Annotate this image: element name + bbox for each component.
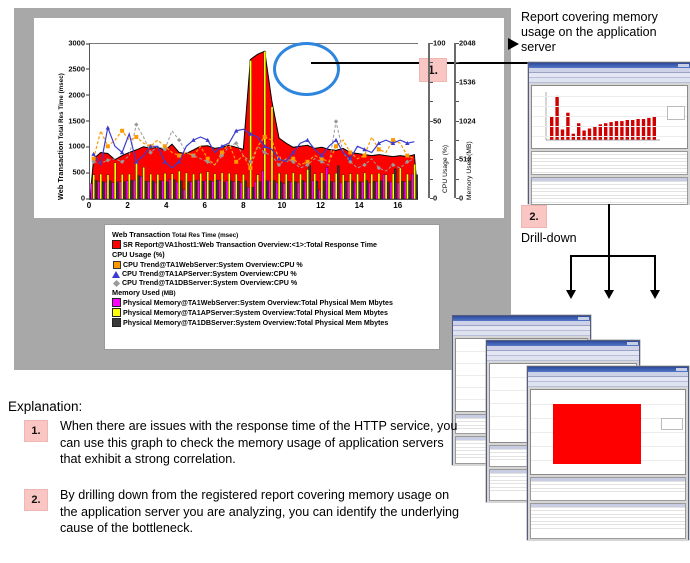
legend-group-heading: CPU Usage (%) [112, 250, 436, 259]
explanation-text-2: By drilling down from the registered rep… [60, 487, 460, 537]
legend-item: Physical Memory@TA1WebServer:System Over… [112, 298, 436, 307]
highlight-circle [273, 42, 340, 96]
report-chart-legend [667, 106, 685, 120]
drilldown-arrow-mid [604, 290, 614, 299]
drilldown-bar-3 [553, 404, 641, 464]
legend-item-label: Physical Memory@TA1APServer:System Overv… [123, 309, 388, 317]
color-swatch-icon [112, 298, 121, 307]
legend-item: SR Report@VA1host1:Web Transaction Overv… [112, 240, 436, 249]
y-axis-cpu-label: CPU Usage (%) [442, 145, 449, 193]
legend-item: CPU Trend@TA1DBServer:System Overview:CP… [112, 279, 436, 287]
drilldown-arrow-right [650, 290, 660, 299]
report-title: Report covering memory usage on the appl… [521, 10, 689, 55]
x-tick-label: 14 [355, 201, 364, 210]
report-data-table [531, 177, 688, 205]
legend-item: CPU Trend@TA1WebServer:System Overview:C… [112, 260, 436, 269]
explanation-text-1: When there are issues with the response … [60, 418, 460, 468]
x-tick-label: 16 [393, 201, 402, 210]
x-tick-label: 6 [203, 201, 207, 210]
legend-item: Physical Memory@TA1APServer:System Overv… [112, 308, 436, 317]
report-window-screenshot[interactable] [528, 62, 690, 204]
drilldown-branch-left [570, 255, 572, 291]
x-tick-label: 8 [241, 201, 245, 210]
y-axis-memory-label: Memory Used (MB) [466, 141, 473, 200]
drilldown-branch-mid [608, 255, 610, 291]
x-tick-label: 4 [164, 201, 168, 210]
square-marker-icon [113, 261, 121, 269]
legend-item-label: Physical Memory@TA1DBServer:System Overv… [123, 319, 388, 327]
drill-down-label: Drill-down [521, 231, 577, 245]
explanation-badge-1: 1. [24, 420, 48, 442]
callout-badge-2: 2. [521, 205, 547, 228]
legend-item: Physical Memory@TA1DBServer:System Overv… [112, 318, 436, 327]
x-axis-ticks: 0246810121416 [89, 201, 417, 213]
color-swatch-icon [112, 308, 121, 317]
color-swatch-icon [112, 240, 121, 249]
chart-legend: Web Transaction Total Res Time (msec)SR … [104, 224, 440, 350]
performance-chart: Web Transaction Total Res Time (msec) 30… [34, 18, 504, 218]
x-tick-label: 12 [316, 201, 325, 210]
legend-item-label: SR Report@VA1host1:Web Transaction Overv… [123, 241, 377, 249]
x-tick-label: 0 [87, 201, 91, 210]
y-axis-left-ticks: 3000 2500 2000 1500 1000 500 0 [52, 43, 85, 198]
drilldown-stem [608, 204, 610, 256]
legend-group-heading: Memory Used (MB) [112, 288, 436, 297]
legend-item-label: Physical Memory@TA1WebServer:System Over… [123, 299, 393, 307]
x-tick-label: 10 [277, 201, 286, 210]
drilldown-branch-right [654, 255, 656, 291]
window-body [529, 83, 690, 205]
color-swatch-icon [112, 318, 121, 327]
plot-area [89, 43, 418, 200]
report-bar-chart [531, 85, 688, 149]
legend-group-heading: Web Transaction Total Res Time (msec) [112, 230, 436, 239]
drilldown-bar [570, 255, 655, 257]
callout-arrow-head [508, 38, 519, 50]
legend-item-label: CPU Trend@TA1WebServer:System Overview:C… [123, 261, 303, 269]
triangle-marker-icon [112, 271, 120, 278]
drilldown-chart-legend [661, 418, 683, 430]
diamond-marker-icon [113, 280, 120, 287]
legend-item-label: CPU Trend@TA1APServer:System Overview:CP… [122, 270, 297, 278]
drilldown-window-3[interactable] [527, 366, 689, 540]
legend-item: CPU Trend@TA1APServer:System Overview:CP… [112, 270, 436, 278]
x-tick-label: 2 [125, 201, 129, 210]
chart-series-svg [90, 44, 418, 199]
explanation-title: Explanation: [8, 399, 82, 414]
report-detail-panel [531, 151, 688, 175]
drilldown-arrow-left [566, 290, 576, 299]
explanation-badge-2: 2. [24, 489, 48, 511]
legend-item-label: CPU Trend@TA1DBServer:System Overview:CP… [122, 279, 297, 287]
